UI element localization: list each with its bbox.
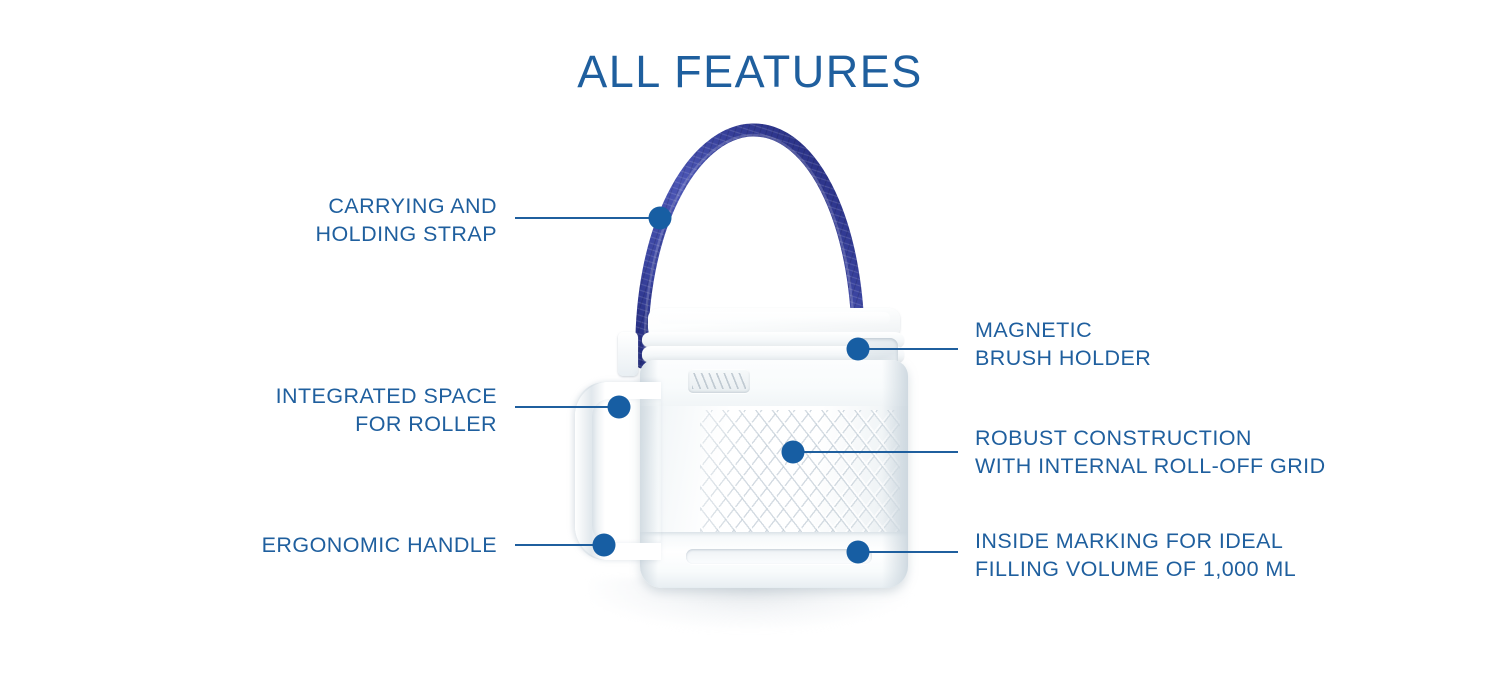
bucket-bottom-band <box>640 532 908 588</box>
page-title: ALL FEATURES <box>0 46 1500 98</box>
bucket-bottom-groove <box>686 549 872 564</box>
body-right-edge-shading <box>882 360 908 588</box>
embossed-brand-badge <box>688 369 750 393</box>
callout-label-integrated-space-for-roller: INTEGRATED SPACE FOR ROLLER <box>0 382 497 438</box>
feature-diagram-canvas: ALL FEATURES <box>0 0 1500 700</box>
product-illustration <box>520 110 980 620</box>
strap-mount-clip <box>618 332 638 376</box>
callout-label-ergonomic-handle: ERGONOMIC HANDLE <box>0 531 497 559</box>
cross-hatch-texture-panel <box>700 410 900 538</box>
callout-label-magnetic-brush-holder: MAGNETIC BRUSH HOLDER <box>975 316 1500 372</box>
bucket-shoulder <box>640 360 908 406</box>
bucket-body <box>640 360 908 588</box>
callout-label-robust-construction: ROBUST CONSTRUCTION WITH INTERNAL ROLL-O… <box>975 424 1500 480</box>
callout-label-carrying-and-holding-strap: CARRYING AND HOLDING STRAP <box>0 192 497 248</box>
ergonomic-handle <box>575 382 661 560</box>
callout-label-inside-marking-filling-volume: INSIDE MARKING FOR IDEAL FILLING VOLUME … <box>975 527 1500 583</box>
